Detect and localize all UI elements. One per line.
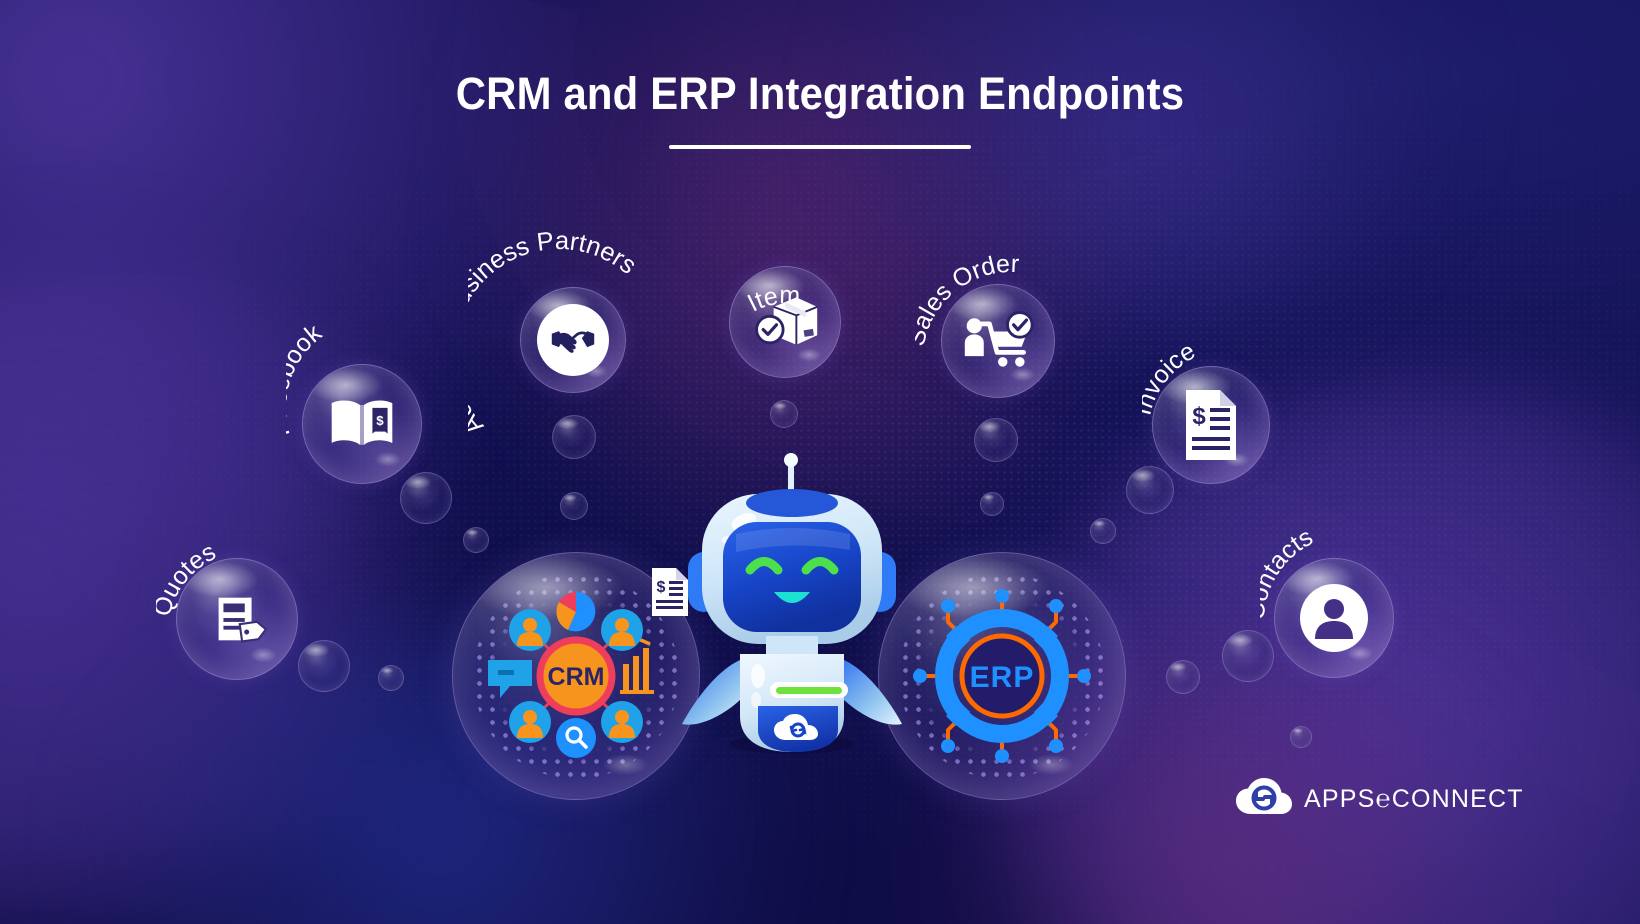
svg-text:$: $ — [1192, 403, 1206, 430]
title-divider — [669, 145, 971, 149]
decorative-bubble — [378, 665, 404, 691]
user-avatar-icon — [509, 701, 551, 743]
chat-bubble-icon — [488, 660, 532, 698]
brand-name: APPS℮CONNECT — [1304, 785, 1524, 814]
svg-text:$: $ — [657, 579, 666, 596]
crm-network-icon: CRM — [486, 586, 666, 766]
user-avatar-icon — [601, 609, 643, 651]
decorative-bubble — [1166, 660, 1200, 694]
pie-chart-icon — [556, 592, 595, 631]
endpoint-contacts[interactable]: Contacts — [1274, 558, 1394, 678]
page-title: CRM and ERP Integration Endpoints — [57, 68, 1582, 120]
erp-gear-network-icon: ERP — [912, 586, 1092, 766]
endpoint-pricebook[interactable]: $ Pricebook — [302, 364, 422, 484]
quote-document-icon — [202, 584, 272, 654]
shopping-cart-check-icon — [959, 308, 1037, 374]
open-book-price-tag-icon: $ — [324, 391, 400, 457]
integration-robot — [666, 448, 918, 758]
user-avatar-icon — [509, 609, 551, 651]
decorative-bubble — [552, 415, 596, 459]
decorative-bubble — [980, 492, 1004, 516]
brand-logo: APPS℮CONNECT — [1236, 778, 1524, 821]
decorative-bubble — [1222, 630, 1274, 682]
decorative-bubble — [1290, 726, 1312, 748]
crm-core-label: CRM — [548, 663, 605, 691]
svg-text:$: $ — [376, 413, 384, 428]
decorative-bubble — [560, 492, 588, 520]
decorative-bubble — [1090, 518, 1116, 544]
package-box-check-icon — [747, 287, 823, 357]
user-avatar-icon — [601, 701, 643, 743]
endpoint-invoice[interactable]: $ Invoice — [1152, 366, 1270, 484]
robot-left-arm — [682, 660, 748, 725]
magnifier-icon — [556, 718, 596, 758]
decorative-bubble — [770, 400, 798, 428]
endpoint-item[interactable]: Item — [729, 266, 841, 378]
decorative-bubble — [298, 640, 350, 692]
endpoint-accounts[interactable]: Accounts/Business Partners — [520, 287, 626, 393]
decorative-bubble — [974, 418, 1018, 462]
handshake-icon — [537, 304, 609, 376]
page-title-block: CRM and ERP Integration Endpoints — [0, 68, 1640, 149]
erp-core-label: ERP — [970, 661, 1035, 694]
decorative-bubble — [463, 527, 489, 553]
invoice-document-icon: $ — [1180, 386, 1242, 464]
cloud-sync-icon — [1236, 778, 1292, 821]
endpoint-quotes[interactable]: Quotes — [176, 558, 298, 680]
endpoint-sales-order[interactable]: Sales Order — [941, 284, 1055, 398]
person-avatar-icon — [1300, 584, 1368, 652]
infographic-canvas: CRM and ERP Integration Endpoints — [0, 0, 1640, 924]
